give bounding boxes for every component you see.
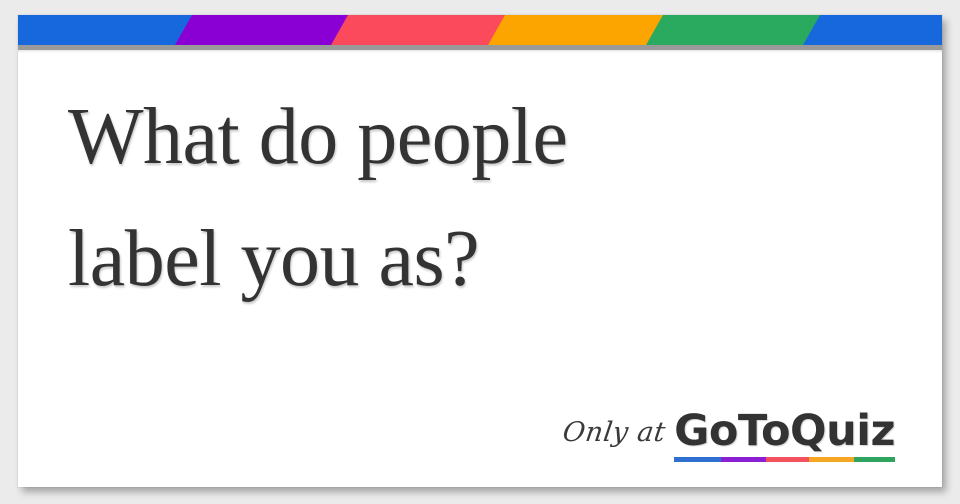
brand-underline-red: [766, 457, 809, 462]
color-ribbon: [18, 15, 942, 45]
question-area: What do people label you as?: [68, 77, 828, 320]
brand-wordmark: GoToQuiz: [674, 410, 895, 454]
brand-tagline: Only at: [558, 417, 667, 462]
ribbon-segment-red: [331, 15, 507, 45]
brand-underline-green: [854, 457, 895, 462]
brand-underline-purple: [721, 457, 766, 462]
brand-underline-orange: [809, 457, 854, 462]
color-ribbon-shadow-soft: [18, 50, 942, 53]
brand-underline-bar: [674, 457, 895, 462]
ribbon-segment-blue: [18, 15, 194, 45]
brand-footer[interactable]: Only at GoToQuiz: [562, 410, 895, 462]
ribbon-segment-blue2: [803, 15, 942, 45]
quiz-card: What do people label you as? Only at GoT…: [18, 15, 942, 487]
ribbon-segment-green: [646, 15, 822, 45]
brand-underline-blue: [674, 457, 721, 462]
ribbon-segment-orange: [488, 15, 665, 45]
ribbon-segment-purple: [175, 15, 350, 45]
page-title: What do people label you as?: [68, 77, 828, 320]
brand-logo[interactable]: GoToQuiz: [674, 410, 895, 462]
